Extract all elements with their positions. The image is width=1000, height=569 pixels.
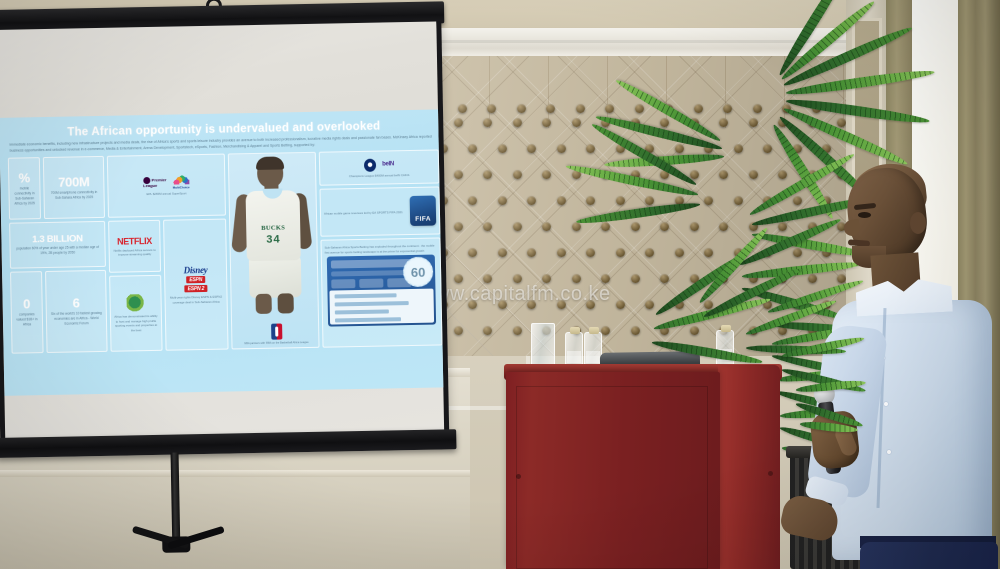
stat-card-1-3-billion: 1.3 BILLION population 60% of year under… [9, 221, 106, 269]
brand-row: PremierLeague MultiChoice [111, 175, 221, 191]
brand-card-disney-espn: Disney ESPN ESPN 2 Multi-year rights Dis… [163, 219, 229, 351]
app-row-line [335, 310, 389, 315]
stat-card-unicorns: 0 companies valued $1B+ in Africa [10, 271, 44, 354]
multichoice-flower-icon [173, 175, 189, 184]
brand-caption: NBA partners with FIBA on the Basketball… [236, 341, 316, 347]
app-content-panel [329, 289, 434, 325]
slide-stats-column: % mobile connectivity in Sub-Saharan Afr… [8, 156, 108, 354]
stat-value: 1.3 BILLION [32, 234, 83, 244]
jersey-team-name: BUCKS [246, 224, 300, 232]
brand-caption: Multi-year rights Disney ESPN & ESPN2 co… [169, 295, 224, 305]
presenter-trousers [860, 542, 998, 569]
stat-caption: population 60% of year under age 25 with… [14, 245, 102, 257]
brand-caption: Africa has demonstrated its ability to h… [114, 314, 158, 333]
disney-icon: Disney [184, 265, 208, 275]
nba-fiba-block: NBA partners with FIBA on the Basketball… [236, 323, 316, 347]
stat-caption: mobile connectivity in Sub-Saharan Afric… [12, 186, 36, 206]
brand-card-africa-map: Africa has demonstrated its ability to h… [109, 275, 162, 352]
champions-league-icon [364, 158, 376, 171]
bottle-cap [589, 327, 599, 334]
projector-screen: The African opportunity is undervalued a… [0, 1, 453, 480]
brand-caption: African mobile game revenues led by EA S… [324, 210, 406, 216]
africa-map-icon [126, 294, 144, 312]
stat-value: 6 [73, 297, 80, 310]
bottle-label [718, 349, 732, 361]
bottle-cap [570, 327, 580, 334]
jersey-number: 34 [246, 233, 300, 246]
brand-card-premier-league: PremierLeague MultiChoice EPL $265M annu… [107, 154, 226, 218]
slide-brands-column: PremierLeague MultiChoice EPL $265M annu… [107, 154, 229, 352]
app-row-line [335, 301, 409, 306]
app-nav-item [331, 279, 355, 288]
brands-row-2: NETFLIX Netflix deployed Africa servers … [108, 219, 228, 352]
presentation-slide: The African opportunity is undervalued a… [0, 109, 449, 396]
netflix-icon: NETFLIX [117, 236, 152, 247]
app-row-line [335, 294, 397, 299]
stat-value: 700M [58, 175, 90, 189]
stat-value: 0 [23, 298, 30, 311]
multichoice-icon: MultiChoice [172, 175, 189, 189]
podium-hinge-left [516, 474, 521, 479]
slide-right-column: beIN Champions League $400M annual beIN … [319, 150, 443, 348]
stat-caption: Six of the world's 10 fastest growing ec… [50, 311, 103, 327]
pl-ball-icon [143, 177, 150, 184]
brand-card-netflix: NETFLIX Netflix deployed Africa servers … [108, 220, 161, 273]
shirt-button [887, 450, 891, 454]
slide-content-grid: % mobile connectivity in Sub-Saharan Afr… [8, 150, 445, 354]
player-jersey: BUCKS 34 [246, 190, 301, 261]
podium-front-panel [506, 372, 720, 569]
brand-caption: Netflix deployed Africa servers to impro… [113, 248, 157, 258]
stat-caption: companies valued $1B+ in Africa [15, 313, 39, 328]
presenter [760, 150, 1000, 569]
stats-row-1: % mobile connectivity in Sub-Saharan Afr… [8, 156, 105, 220]
tripod-pole [171, 453, 181, 549]
espn2-icon: ESPN 2 [185, 285, 208, 292]
espn-icon: ESPN [186, 276, 205, 283]
stat-card-700m: 700M 700M smartphone connectivity in Sub… [43, 156, 105, 219]
brand-card-champions-league: beIN Champions League $400M annual beIN … [319, 150, 440, 186]
betting-app-screenshot: 60 [327, 255, 436, 327]
bein-icon: beIN [382, 161, 394, 167]
bottle-label [567, 351, 581, 363]
player-shorts [249, 255, 302, 298]
brand-card-fifa: African mobile game revenues led by EA S… [319, 187, 440, 237]
stats-row-3: 0 companies valued $1B+ in Africa 6 Six … [10, 270, 108, 354]
shirt-button [884, 402, 888, 406]
player-hair [256, 157, 284, 171]
bottle-cap [721, 325, 731, 332]
nba-logo-icon [271, 324, 282, 340]
app-nav-item [359, 279, 383, 288]
slide-photo-column: BUCKS 34 NBA partners with FIBA on the B… [228, 152, 320, 350]
stat-caption: 700M smartphone connectivity in Sub-Saha… [47, 190, 100, 201]
brands-subcolumn: NETFLIX Netflix deployed Africa servers … [108, 220, 163, 352]
player-leg-right [278, 294, 294, 314]
brand-label: MultiChoice [173, 185, 190, 189]
presenter-eye [858, 212, 871, 218]
presenter-ear [910, 212, 926, 234]
app-row-line [335, 318, 401, 323]
screen-surface: The African opportunity is undervalued a… [0, 21, 449, 440]
brand-caption: Sub-Saharan Africa Sports Betting has ex… [325, 244, 437, 255]
brand-caption: Champions League $400M annual beIN CAF/A [349, 173, 409, 179]
player-figure: BUCKS 34 [235, 157, 312, 308]
stat-card-percent: % mobile connectivity in Sub-Saharan Afr… [8, 157, 41, 220]
basketball-player-photo: BUCKS 34 NBA partners with FIBA on the B… [228, 152, 320, 350]
brand-caption: EPL $265M annual SuperSport [147, 191, 187, 196]
stat-value: % [18, 171, 30, 184]
photo-scene: www.capitalfm.co.ke [0, 0, 1000, 569]
fifa-icon: FIFA [410, 196, 437, 226]
brand-row: beIN [323, 157, 435, 172]
premier-league-icon: PremierLeague [143, 177, 167, 189]
bottle-label [586, 351, 600, 363]
stat-card-six: 6 Six of the world's 10 fastest growing … [45, 270, 108, 353]
odds-badge: 60 [403, 257, 434, 288]
brand-card-sports-betting: Sub-Saharan Africa Sports Betting has ex… [320, 238, 442, 348]
player-leg-left [256, 294, 272, 314]
